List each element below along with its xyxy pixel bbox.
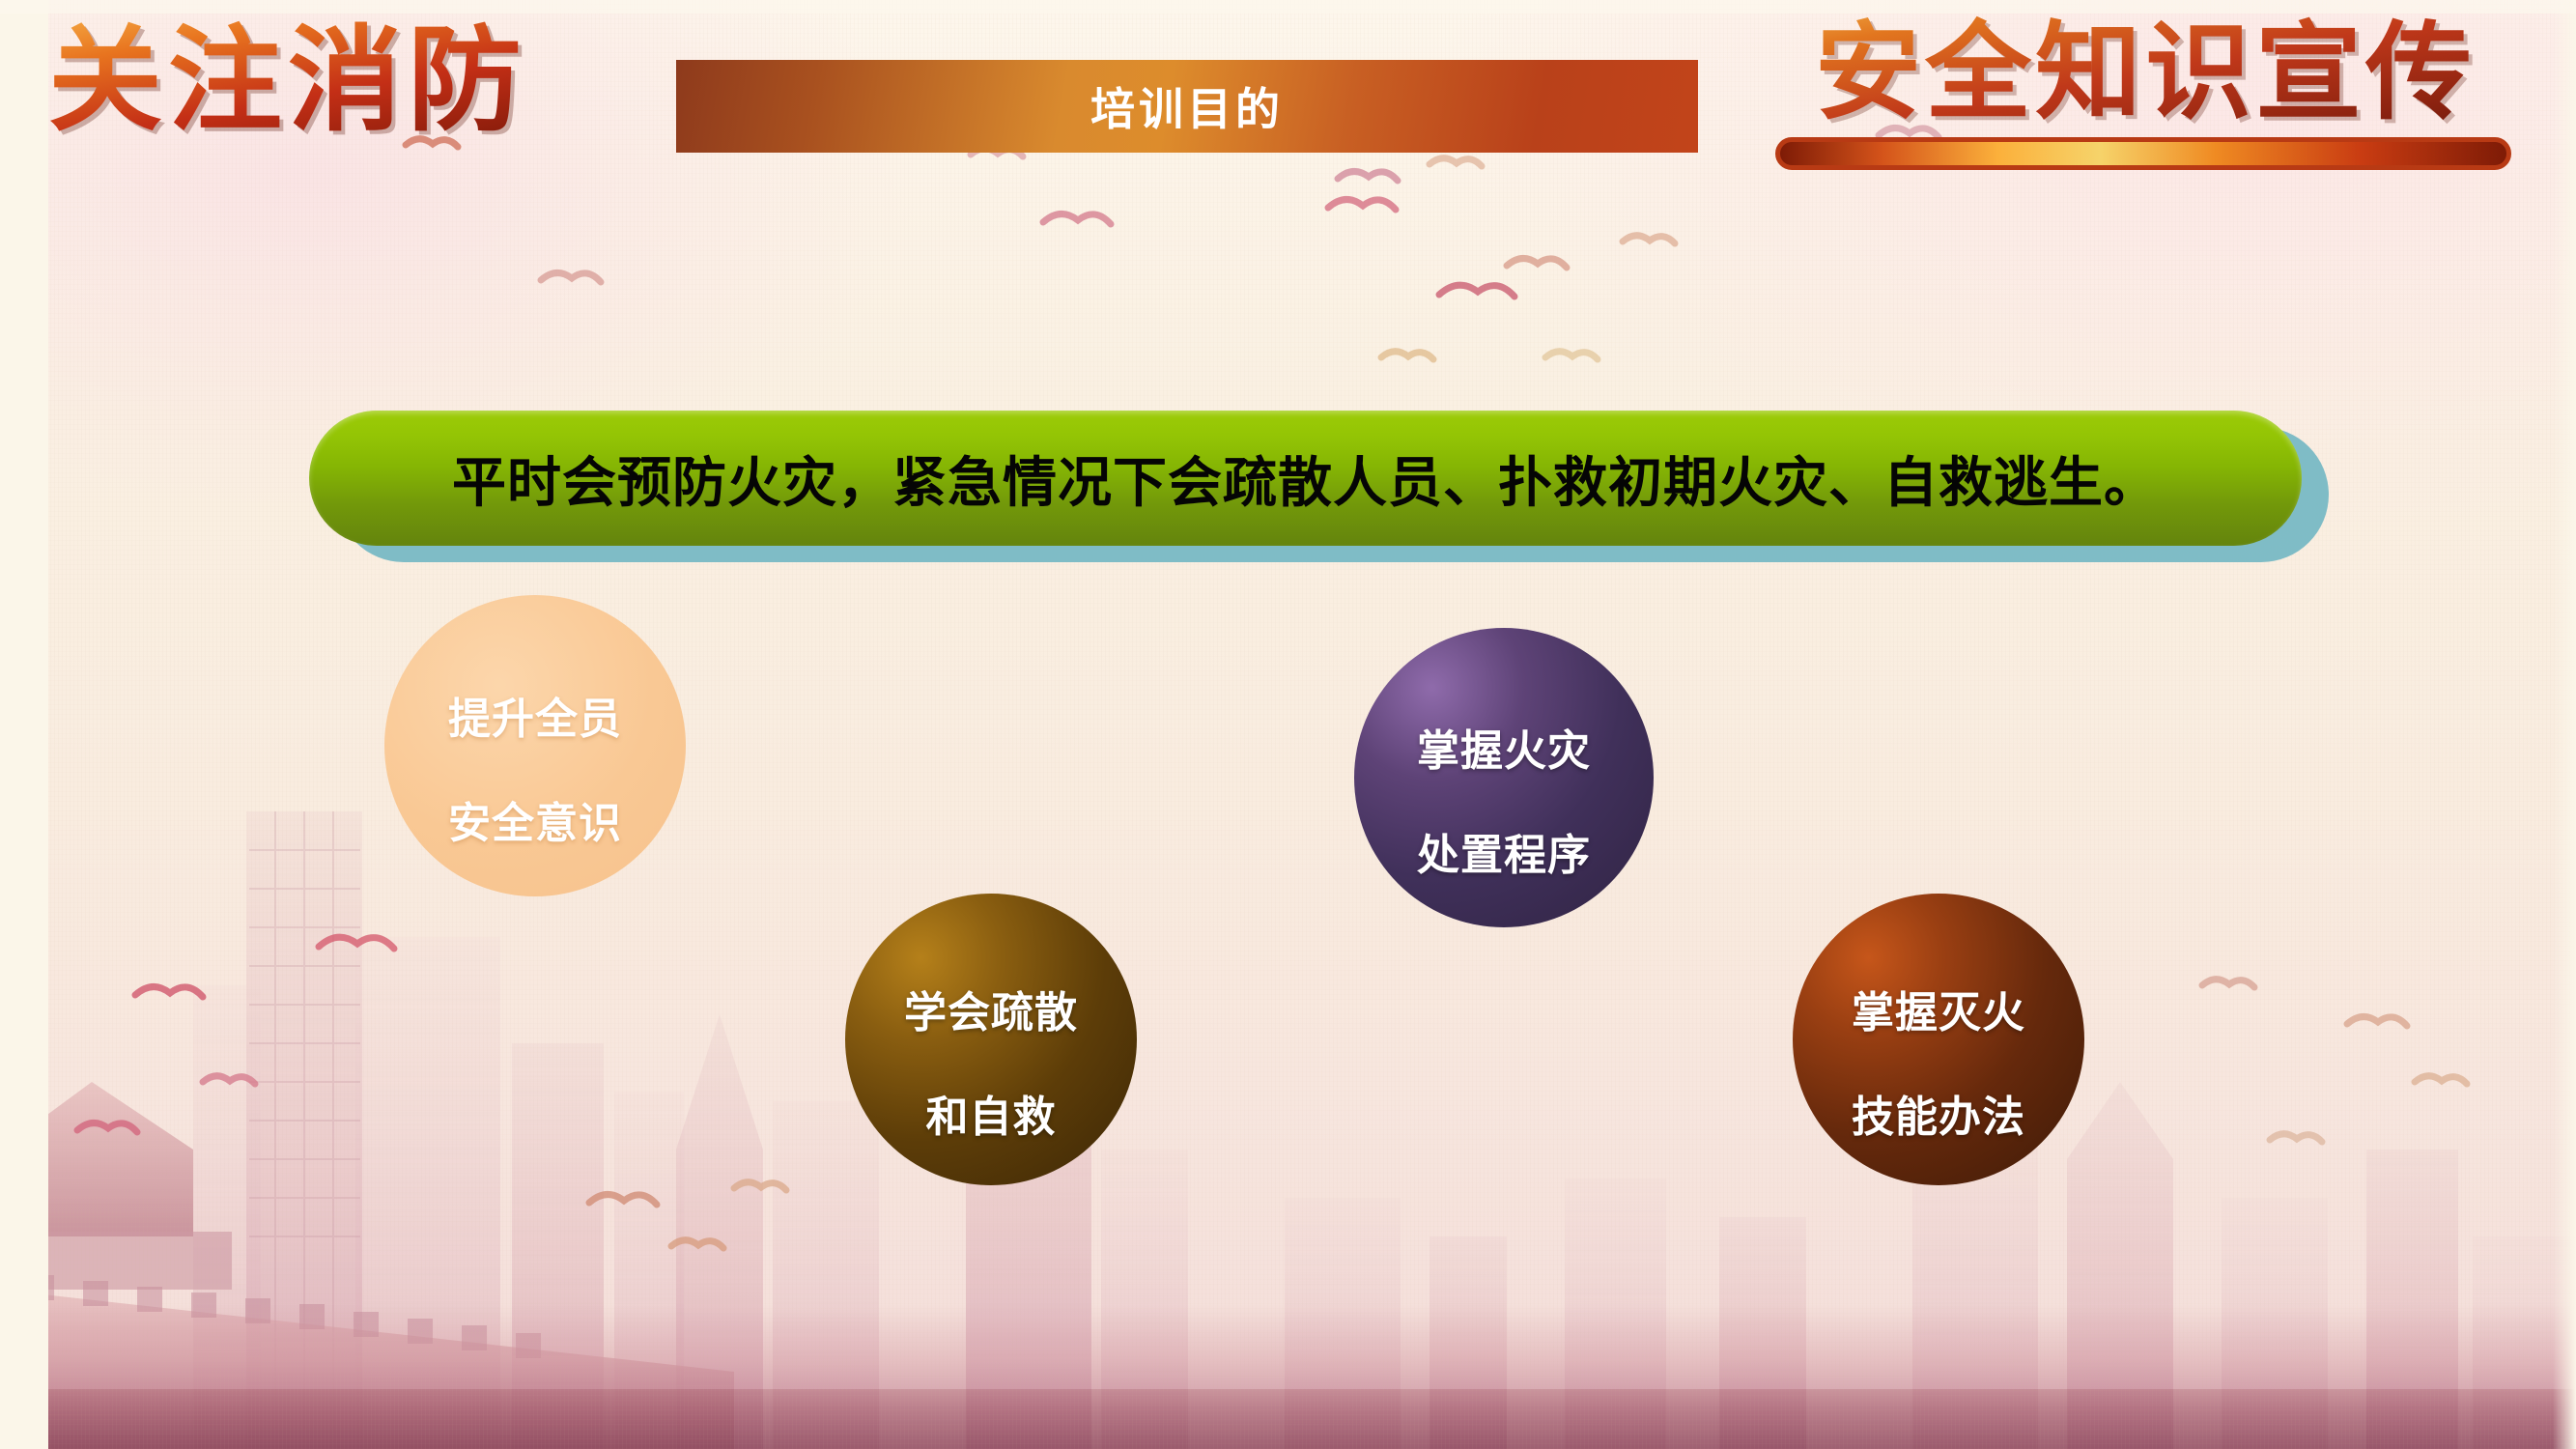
objective-label-1-line2: 安全意识	[448, 800, 622, 847]
right-title-flame-underline	[1775, 137, 2511, 170]
objective-label-2: 学会疏散 和自救	[904, 936, 1078, 1144]
slide-frame-right	[2553, 0, 2576, 1449]
right-title: 安全知识宣传	[1744, 0, 2546, 145]
objective-label-1-line1: 提升全员	[448, 696, 622, 743]
left-title: 关注消防	[48, 8, 686, 153]
objective-label-3-line2: 处置程序	[1417, 832, 1591, 879]
objective-label-4-line1: 掌握灭火	[1852, 989, 2025, 1037]
objective-label-4-line2: 技能办法	[1852, 1094, 2025, 1141]
objective-bubble-master-firefighting[interactable]: 掌握灭火 技能办法	[1793, 894, 2084, 1185]
objective-label-3: 掌握火灾 处置程序	[1417, 674, 1591, 882]
objective-bubble-master-procedure[interactable]: 掌握火灾 处置程序	[1354, 628, 1654, 927]
objective-label-2-line2: 和自救	[926, 1094, 1057, 1141]
statement-pill: 平时会预防火灾，紧急情况下会疏散人员、扑救初期火灾、自救逃生。	[309, 411, 2302, 546]
objective-label-2-line1: 学会疏散	[904, 989, 1078, 1037]
slide-canvas: 关注消防 关注消防 培训目的 安全知识宣传 安全知识宣传 平时会预防火灾，紧急情…	[0, 0, 2576, 1449]
banner-title: 培训目的	[676, 60, 1698, 153]
objective-label-1: 提升全员 安全意识	[448, 642, 622, 850]
objective-label-4: 掌握灭火 技能办法	[1852, 936, 2025, 1144]
objective-label-3-line1: 掌握火灾	[1417, 727, 1591, 775]
statement-text: 平时会预防火灾，紧急情况下会疏散人员、扑救初期火灾、自救逃生。	[309, 411, 2302, 546]
objective-bubble-learn-evacuation[interactable]: 学会疏散 和自救	[845, 894, 1137, 1185]
objective-bubble-raise-awareness[interactable]: 提升全员 安全意识	[384, 595, 686, 896]
banner-bar: 培训目的	[676, 60, 1698, 153]
